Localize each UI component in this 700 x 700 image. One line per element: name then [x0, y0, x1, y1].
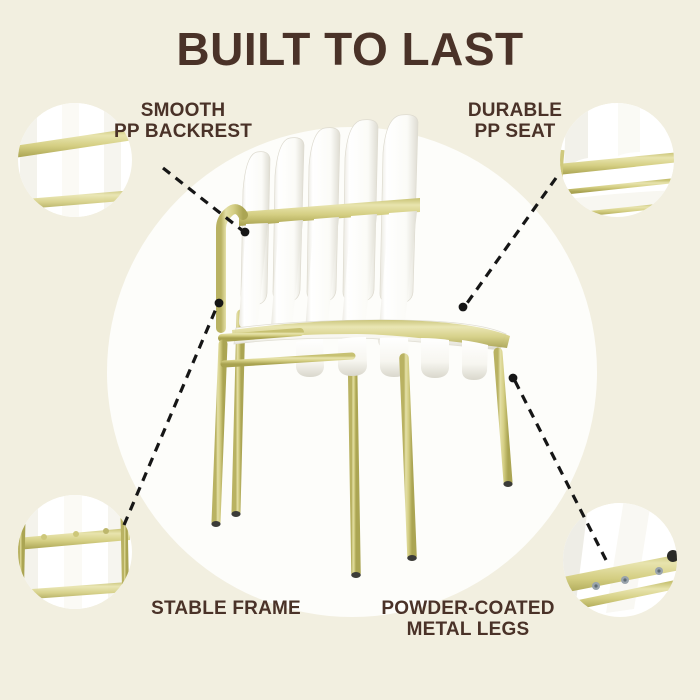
seat-front-slat-4	[421, 338, 449, 378]
rear-left-foot-tip	[231, 511, 240, 517]
page-title: BUILT TO LAST	[0, 22, 700, 76]
callout-label-smooth-pp-backrest: SMOOTH PP BACKREST	[88, 100, 278, 143]
front-left-foot-tip	[211, 521, 220, 527]
inset-legs-screw-2-slot	[623, 578, 626, 581]
inset-frame-screw-3	[103, 528, 109, 534]
seat-front-slat-5	[462, 340, 488, 380]
callout-label-stable-frame: STABLE FRAME	[126, 598, 326, 619]
infographic-canvas: BUILT TO LAST SMOOTH PP BACKREST DURABLE…	[0, 0, 700, 700]
callout-label-powder-coated-metal-legs: POWDER-COATED METAL LEGS	[368, 598, 568, 641]
inset-legs-screw-3-slot	[657, 569, 660, 572]
inset-frame-screw-2	[73, 531, 79, 537]
leader-dot-seat	[459, 303, 468, 312]
inset-frame-screw-1	[41, 534, 47, 540]
rear-right-foot-tip	[351, 572, 361, 578]
front-right-foot-tip	[503, 481, 512, 487]
leader-dot-frame	[215, 299, 224, 308]
leader-dot-backrest	[241, 228, 250, 237]
inset-legs-screw-1-slot	[594, 584, 597, 587]
front-center-foot-tip	[407, 555, 417, 561]
callout-label-durable-pp-seat: DURABLE PP SEAT	[420, 100, 610, 143]
leader-dot-legs	[509, 374, 518, 383]
